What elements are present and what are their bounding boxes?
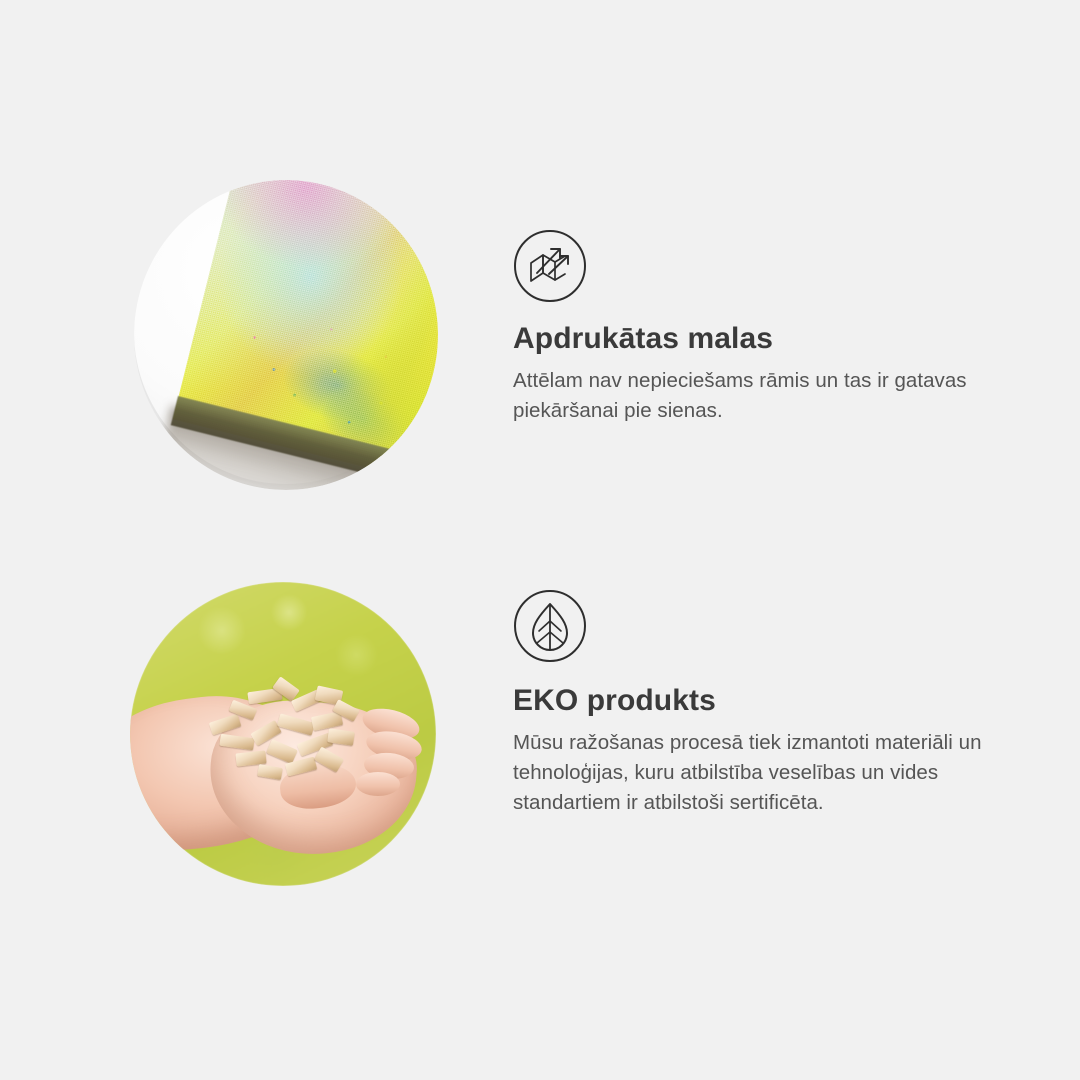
hands-holding-wood-chips-photo	[130, 582, 436, 886]
feature-description-eco-product: Mūsu ražošanas procesā tiek izmantoti ma…	[513, 728, 1013, 818]
feature-title-eco-product: EKO produkts	[513, 684, 716, 718]
printed-edges-icon	[513, 229, 587, 303]
feature-description-printed-edges: Attēlam nav nepieciešams rāmis un tas ir…	[513, 366, 1013, 426]
eco-photo-clip	[130, 582, 436, 886]
canvas-artwork-clip	[134, 180, 438, 490]
feature-title-printed-edges: Apdrukātas malas	[513, 322, 773, 356]
canvas-print-corner-photo	[134, 180, 438, 490]
promo-feature-page: Apdrukātas malas Attēlam nav nepieciešam…	[0, 0, 1080, 1080]
leaf-icon	[513, 589, 587, 663]
wood-chip-pile	[200, 674, 372, 782]
